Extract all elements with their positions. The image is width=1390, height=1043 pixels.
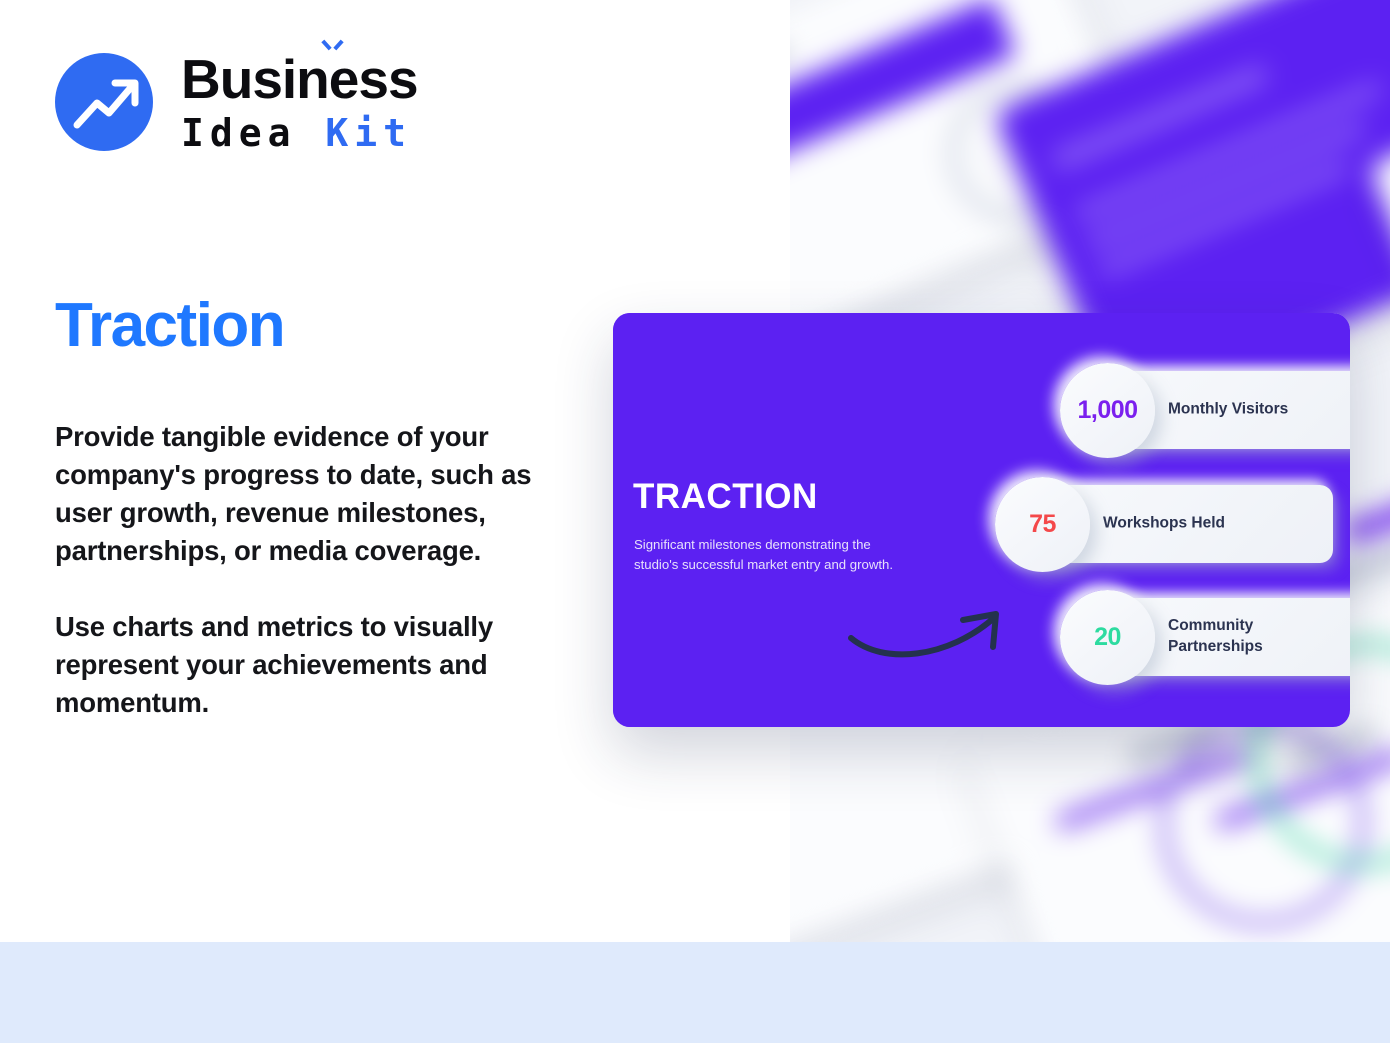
metric-row-workshops-held[interactable]: Workshops Held 75 bbox=[995, 477, 1090, 572]
description-paragraph-2: Use charts and metrics to visually repre… bbox=[55, 608, 575, 722]
logo-wordmark-bottom: Idea Kit bbox=[181, 114, 418, 152]
metric-label: Workshops Held bbox=[1103, 514, 1225, 535]
logo-word-idea: Idea bbox=[181, 111, 325, 155]
metric-value: 20 bbox=[1094, 623, 1121, 652]
growth-arrow-icon bbox=[55, 53, 153, 151]
metric-value: 1,000 bbox=[1077, 396, 1137, 425]
metric-label: Community Partnerships bbox=[1168, 616, 1263, 658]
traction-slide-card: TRACTION Significant milestones demonstr… bbox=[613, 313, 1350, 727]
metric-value-badge: 75 bbox=[995, 477, 1090, 572]
metric-label: Monthly Visitors bbox=[1168, 400, 1288, 421]
logo-wordmark-top: Business bbox=[181, 52, 418, 107]
metric-value-badge: 20 bbox=[1060, 590, 1155, 685]
metric-value: 75 bbox=[1029, 510, 1056, 539]
footer-band bbox=[0, 942, 1390, 1043]
metric-row-community-partnerships[interactable]: Community Partnerships 20 bbox=[1060, 590, 1155, 685]
metric-row-monthly-visitors[interactable]: Monthly Visitors 1,000 bbox=[1060, 363, 1155, 458]
description-block: Provide tangible evidence of your compan… bbox=[55, 418, 575, 722]
logo-word-kit: Kit bbox=[325, 111, 412, 155]
logo-word-business: Business bbox=[181, 48, 418, 110]
page-title: Traction bbox=[55, 295, 284, 357]
metric-value-badge: 1,000 bbox=[1060, 363, 1155, 458]
curved-up-arrow-icon bbox=[843, 593, 1013, 668]
brand-logo: Business Idea Kit bbox=[55, 52, 418, 152]
logo-circumflex-icon bbox=[324, 39, 341, 52]
description-paragraph-1: Provide tangible evidence of your compan… bbox=[55, 418, 575, 570]
page-root: Business Idea Kit Traction Provide tangi… bbox=[0, 0, 1390, 1043]
